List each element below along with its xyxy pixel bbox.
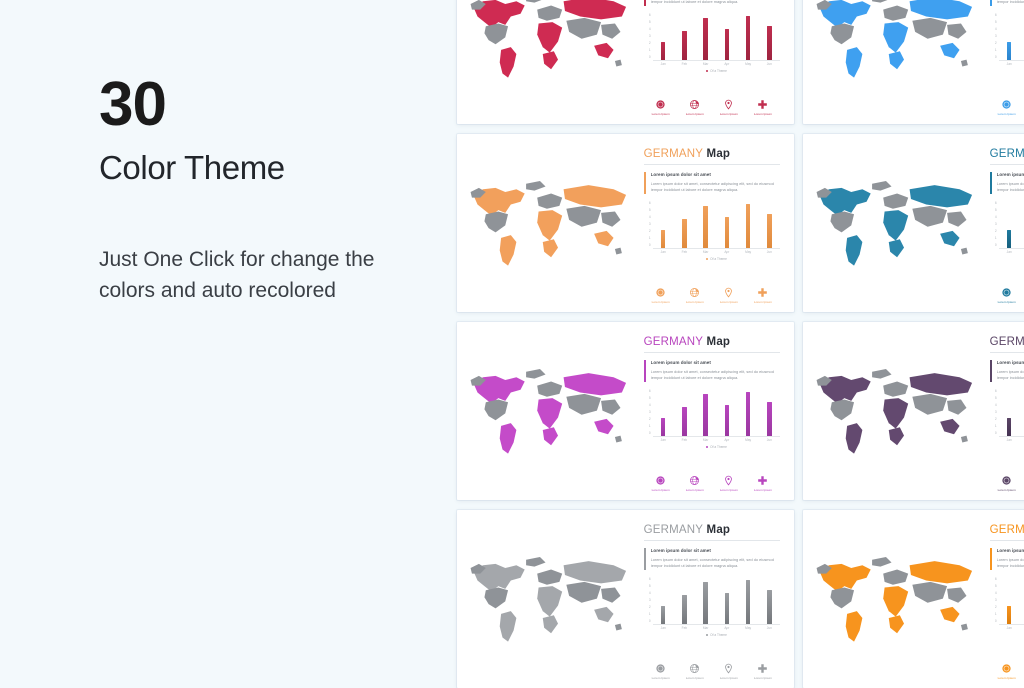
- y-axis-tick: 2: [995, 230, 997, 233]
- medical-cross-icon: [757, 287, 768, 298]
- chart-bar-column: [760, 214, 778, 248]
- bar-chart: 6543210JanFebMarAprMayJunOf a Theme: [644, 14, 780, 73]
- x-axis-label: Apr: [718, 439, 736, 442]
- chart-y-axis: 6543210: [990, 14, 999, 60]
- chart-legend: Of a Theme: [653, 445, 780, 449]
- chart-bar-column: [654, 230, 672, 248]
- y-axis-tick: 5: [649, 209, 651, 212]
- chart-bar: [746, 580, 751, 624]
- promo-subtitle: Just One Click for change the colors and…: [99, 245, 429, 306]
- y-axis-tick: 3: [995, 223, 997, 226]
- chart-bar-column: [676, 407, 694, 436]
- feature-item: Lorem Ipsum: [680, 99, 710, 116]
- slide-content: GERMANY Map Lorem ipsum dolor sit amet L…: [982, 510, 1024, 688]
- chart-bar-column: [718, 29, 736, 60]
- chart-y-axis: 6543210: [990, 202, 999, 248]
- feature-label: Lorem Ipsum: [754, 301, 772, 304]
- y-axis-tick: 5: [649, 21, 651, 24]
- y-axis-tick: 1: [649, 613, 651, 616]
- y-axis-tick: 5: [995, 585, 997, 588]
- blurb-paragraph: Lorem ipsum dolor sit amet, consectetur …: [997, 369, 1024, 382]
- legend-label: Of a Theme: [710, 257, 727, 261]
- feature-label: Lorem Ipsum: [652, 489, 670, 492]
- y-axis-tick: 3: [649, 411, 651, 414]
- chart-bar-column: [739, 16, 757, 60]
- theme-card-plum-theme[interactable]: GERMANY Map Lorem ipsum dolor sit amet L…: [803, 322, 1024, 500]
- y-axis-tick: 0: [995, 620, 997, 623]
- slide-title-dark: Map: [703, 148, 730, 160]
- feature-item: Lorem Ipsum: [992, 475, 1022, 492]
- y-axis-tick: 4: [995, 404, 997, 407]
- chart-legend: Of a Theme: [999, 445, 1024, 449]
- y-axis-tick: 0: [649, 620, 651, 623]
- chart-legend: Of a Theme: [653, 257, 780, 261]
- blurb-block: Lorem ipsum dolor sit amet Lorem ipsum d…: [644, 360, 780, 382]
- location-pin-icon: [723, 663, 734, 674]
- chart-bar-column: [1000, 606, 1018, 624]
- bar-chart: 6543210JanFebMarAprMayJunOf a Theme: [644, 578, 780, 637]
- medical-cross-icon: [757, 475, 768, 486]
- chart-plot-area: JanFebMarAprMayJunOf a Theme: [653, 14, 780, 73]
- blurb-paragraph: Lorem ipsum dolor sit amet, consectetur …: [651, 369, 780, 382]
- location-pin-icon: [723, 287, 734, 298]
- slide-content: GERMANY Map Lorem ipsum dolor sit amet L…: [636, 134, 794, 312]
- chart-bar: [682, 595, 687, 624]
- chart-y-axis: 6543210: [990, 578, 999, 624]
- x-axis-label: May: [739, 251, 757, 254]
- y-axis-tick: 0: [995, 56, 997, 59]
- slide-title-accent: GERMANY: [644, 524, 704, 536]
- chart-bar-column: [760, 402, 778, 436]
- y-axis-tick: 4: [649, 404, 651, 407]
- feature-label: Lorem Ipsum: [652, 301, 670, 304]
- feature-item: Lorem Ipsum: [748, 287, 778, 304]
- slide-content: GERMANY Map Lorem ipsum dolor sit amet L…: [636, 0, 794, 124]
- chart-bar-column: [654, 606, 672, 624]
- feature-label: Lorem Ipsum: [998, 113, 1016, 116]
- blurb-block: Lorem ipsum dolor sit amet Lorem ipsum d…: [644, 0, 780, 6]
- blurb-heading: Lorem ipsum dolor sit amet: [651, 548, 780, 555]
- blurb-accent-bar: [990, 360, 992, 382]
- chart-x-axis: JanFebMarAprMayJun: [653, 627, 780, 630]
- blurb-block: Lorem ipsum dolor sit amet Lorem ipsum d…: [644, 172, 780, 194]
- chart-bar-column: [1000, 42, 1018, 60]
- x-axis-label: Jan: [1000, 627, 1018, 630]
- chart-y-axis: 6543210: [644, 390, 653, 436]
- theme-card-azure-theme[interactable]: GERMANY Map Lorem ipsum dolor sit amet L…: [803, 0, 1024, 124]
- medical-cross-icon: [757, 663, 768, 674]
- chart-y-axis: 6543210: [644, 202, 653, 248]
- world-map-icon: [457, 134, 636, 312]
- y-axis-tick: 1: [649, 425, 651, 428]
- chart-y-axis: 6543210: [644, 14, 653, 60]
- world-map-icon: [457, 510, 636, 688]
- blurb-paragraph: Lorem ipsum dolor sit amet, consectetur …: [997, 181, 1024, 194]
- blurb-block: Lorem ipsum dolor sit amet Lorem ipsum d…: [990, 0, 1024, 6]
- chart-x-axis: JanFebMarAprMayJun: [999, 251, 1024, 254]
- y-axis-tick: 2: [649, 606, 651, 609]
- y-axis-tick: 5: [649, 397, 651, 400]
- feature-item: Lorem Ipsum: [992, 287, 1022, 304]
- feature-item: Lorem Ipsum: [714, 663, 744, 680]
- blurb-paragraph: Lorem ipsum dolor sit amet, consectetur …: [651, 181, 780, 194]
- theme-card-orange-theme[interactable]: GERMANY Map Lorem ipsum dolor sit amet L…: [803, 510, 1024, 688]
- slide-title-accent: GERMANY: [644, 148, 704, 160]
- chart-bar: [767, 26, 772, 60]
- feature-icon-row: Lorem IpsumLorem IpsumLorem IpsumLorem I…: [990, 283, 1024, 304]
- slide-title-accent: GERMANY: [990, 336, 1024, 348]
- feature-icon-row: Lorem IpsumLorem IpsumLorem IpsumLorem I…: [644, 95, 780, 116]
- feature-label: Lorem Ipsum: [998, 301, 1016, 304]
- x-axis-label: May: [739, 439, 757, 442]
- chart-x-axis: JanFebMarAprMayJun: [653, 63, 780, 66]
- title-divider: [990, 352, 1024, 353]
- slide-title: GERMANY Map: [990, 524, 1024, 536]
- x-axis-label: Mar: [697, 439, 715, 442]
- slide-content: GERMANY Map Lorem ipsum dolor sit amet L…: [982, 322, 1024, 500]
- x-axis-label: Jun: [760, 63, 778, 66]
- x-axis-label: Jan: [1000, 439, 1018, 442]
- chart-bar-column: [654, 418, 672, 436]
- x-axis-label: May: [739, 627, 757, 630]
- slide-title: GERMANY Map: [644, 524, 780, 536]
- feature-item: Lorem Ipsum: [714, 287, 744, 304]
- y-axis-tick: 0: [649, 432, 651, 435]
- y-axis-tick: 4: [649, 592, 651, 595]
- medical-cross-icon: [757, 99, 768, 110]
- blurb-paragraph: Lorem ipsum dolor sit amet, consectetur …: [997, 0, 1024, 6]
- x-axis-label: Feb: [676, 63, 694, 66]
- chart-plot-area: JanFebMarAprMayJunOf a Theme: [999, 202, 1024, 261]
- globe-icon: [689, 287, 700, 298]
- bar-chart: 6543210JanFebMarAprMayJunOf a Theme: [990, 578, 1024, 637]
- chart-bar: [767, 402, 772, 436]
- y-axis-tick: 2: [649, 230, 651, 233]
- stamp-seal-icon: [1001, 663, 1012, 674]
- legend-swatch: [706, 634, 709, 637]
- x-axis-label: Jan: [654, 627, 672, 630]
- chart-x-axis: JanFebMarAprMayJun: [999, 63, 1024, 66]
- y-axis-tick: 3: [995, 411, 997, 414]
- feature-icon-row: Lorem IpsumLorem IpsumLorem IpsumLorem I…: [644, 283, 780, 304]
- title-divider: [990, 540, 1024, 541]
- globe-icon: [689, 99, 700, 110]
- slide-content: GERMANY Map Lorem ipsum dolor sit amet L…: [982, 0, 1024, 124]
- x-axis-label: Feb: [676, 251, 694, 254]
- y-axis-tick: 1: [995, 49, 997, 52]
- chart-bar-column: [739, 204, 757, 248]
- stamp-seal-icon: [655, 287, 666, 298]
- theme-count: 30: [99, 74, 429, 136]
- blurb-paragraph: Lorem ipsum dolor sit amet, consectetur …: [651, 0, 780, 6]
- chart-bar: [682, 219, 687, 248]
- chart-bar-column: [676, 219, 694, 248]
- y-axis-tick: 4: [995, 592, 997, 595]
- slide-title-dark: Map: [703, 336, 730, 348]
- chart-bar-column: [676, 595, 694, 624]
- chart-bar-column: [697, 394, 715, 435]
- chart-bar-column: [739, 392, 757, 436]
- x-axis-label: Mar: [697, 63, 715, 66]
- feature-label: Lorem Ipsum: [720, 301, 738, 304]
- blurb-accent-bar: [644, 360, 646, 382]
- chart-legend: Of a Theme: [999, 633, 1024, 637]
- stamp-seal-icon: [655, 663, 666, 674]
- chart-x-axis: JanFebMarAprMayJun: [999, 439, 1024, 442]
- y-axis-tick: 3: [995, 35, 997, 38]
- chart-bar-column: [676, 31, 694, 60]
- chart-bar-column: [718, 405, 736, 436]
- feature-icon-row: Lorem IpsumLorem IpsumLorem IpsumLorem I…: [990, 659, 1024, 680]
- world-map-icon: [803, 0, 982, 124]
- bar-chart: 6543210JanFebMarAprMayJunOf a Theme: [990, 202, 1024, 261]
- y-axis-tick: 6: [995, 202, 997, 205]
- chart-bar: [661, 42, 666, 60]
- stamp-seal-icon: [1001, 475, 1012, 486]
- feature-label: Lorem Ipsum: [754, 489, 772, 492]
- blurb-accent-bar: [644, 548, 646, 570]
- chart-bar: [725, 29, 730, 60]
- feature-item: Lorem Ipsum: [680, 475, 710, 492]
- x-axis-label: Apr: [718, 63, 736, 66]
- bar-chart: 6543210JanFebMarAprMayJunOf a Theme: [990, 390, 1024, 449]
- blurb-block: Lorem ipsum dolor sit amet Lorem ipsum d…: [644, 548, 780, 570]
- x-axis-label: Feb: [676, 439, 694, 442]
- chart-bar: [767, 590, 772, 624]
- stamp-seal-icon: [655, 475, 666, 486]
- y-axis-tick: 6: [995, 578, 997, 581]
- chart-bar: [767, 214, 772, 248]
- location-pin-icon: [723, 99, 734, 110]
- chart-bar: [1007, 230, 1012, 248]
- y-axis-tick: 3: [649, 223, 651, 226]
- chart-bar-column: [718, 217, 736, 248]
- blurb-paragraph: Lorem ipsum dolor sit amet, consectetur …: [651, 557, 780, 570]
- theme-card-crimson-theme[interactable]: GERMANY Map Lorem ipsum dolor sit amet L…: [457, 0, 794, 124]
- blurb-accent-bar: [644, 0, 646, 6]
- feature-item: Lorem Ipsum: [992, 99, 1022, 116]
- legend-swatch: [706, 258, 709, 261]
- stamp-seal-icon: [655, 99, 666, 110]
- chart-bar-column: [760, 590, 778, 624]
- chart-bar-column: [697, 582, 715, 623]
- feature-item: Lorem Ipsum: [714, 99, 744, 116]
- y-axis-tick: 2: [649, 418, 651, 421]
- world-map-icon: [803, 322, 982, 500]
- bar-chart: 6543210JanFebMarAprMayJunOf a Theme: [990, 14, 1024, 73]
- feature-item: Lorem Ipsum: [646, 475, 676, 492]
- y-axis-tick: 1: [995, 237, 997, 240]
- feature-item: Lorem Ipsum: [748, 99, 778, 116]
- theme-card-peach-theme[interactable]: GERMANY Map Lorem ipsum dolor sit amet L…: [457, 134, 794, 312]
- location-pin-icon: [723, 475, 734, 486]
- y-axis-tick: 4: [995, 28, 997, 31]
- feature-item: Lorem Ipsum: [748, 475, 778, 492]
- chart-plot-area: JanFebMarAprMayJunOf a Theme: [653, 578, 780, 637]
- theme-card-teal-theme[interactable]: GERMANY Map Lorem ipsum dolor sit amet L…: [803, 134, 1024, 312]
- y-axis-tick: 5: [995, 397, 997, 400]
- blurb-heading: Lorem ipsum dolor sit amet: [997, 548, 1024, 555]
- y-axis-tick: 2: [995, 42, 997, 45]
- x-axis-label: Jan: [654, 439, 672, 442]
- feature-item: Lorem Ipsum: [992, 663, 1022, 680]
- y-axis-tick: 0: [995, 244, 997, 247]
- legend-label: Of a Theme: [710, 69, 727, 73]
- theme-card-orchid-theme[interactable]: GERMANY Map Lorem ipsum dolor sit amet L…: [457, 322, 794, 500]
- y-axis-tick: 4: [649, 216, 651, 219]
- theme-grid: GERMANY Map Lorem ipsum dolor sit amet L…: [457, 0, 1024, 688]
- y-axis-tick: 5: [995, 21, 997, 24]
- feature-label: Lorem Ipsum: [652, 677, 670, 680]
- legend-swatch: [706, 70, 709, 73]
- y-axis-tick: 1: [995, 425, 997, 428]
- y-axis-tick: 2: [649, 42, 651, 45]
- stamp-seal-icon: [1001, 99, 1012, 110]
- feature-label: Lorem Ipsum: [720, 677, 738, 680]
- feature-icon-row: Lorem IpsumLorem IpsumLorem IpsumLorem I…: [644, 659, 780, 680]
- feature-label: Lorem Ipsum: [652, 113, 670, 116]
- feature-item: Lorem Ipsum: [714, 475, 744, 492]
- title-divider: [644, 540, 780, 541]
- chart-bar-column: [1000, 418, 1018, 436]
- feature-label: Lorem Ipsum: [686, 113, 704, 116]
- chart-bar: [703, 206, 708, 247]
- blurb-heading: Lorem ipsum dolor sit amet: [997, 172, 1024, 179]
- chart-bar: [703, 18, 708, 59]
- blurb-accent-bar: [990, 548, 992, 570]
- x-axis-label: Apr: [718, 251, 736, 254]
- chart-bar-column: [739, 580, 757, 624]
- y-axis-tick: 1: [649, 237, 651, 240]
- x-axis-label: Jan: [654, 63, 672, 66]
- chart-plot-area: JanFebMarAprMayJunOf a Theme: [653, 390, 780, 449]
- blurb-block: Lorem ipsum dolor sit amet Lorem ipsum d…: [990, 548, 1024, 570]
- y-axis-tick: 3: [649, 35, 651, 38]
- blurb-accent-bar: [990, 172, 992, 194]
- chart-bar: [661, 230, 666, 248]
- feature-label: Lorem Ipsum: [720, 489, 738, 492]
- y-axis-tick: 1: [995, 613, 997, 616]
- slide-title-accent: GERMANY: [990, 524, 1024, 536]
- x-axis-label: Jun: [760, 439, 778, 442]
- chart-legend: Of a Theme: [999, 257, 1024, 261]
- feature-label: Lorem Ipsum: [720, 113, 738, 116]
- y-axis-tick: 3: [995, 599, 997, 602]
- x-axis-label: Jan: [654, 251, 672, 254]
- feature-item: Lorem Ipsum: [646, 287, 676, 304]
- slide-title: GERMANY Map: [990, 336, 1024, 348]
- world-map-icon: [457, 322, 636, 500]
- feature-label: Lorem Ipsum: [998, 489, 1016, 492]
- x-axis-label: Jan: [1000, 63, 1018, 66]
- y-axis-tick: 6: [995, 390, 997, 393]
- blurb-heading: Lorem ipsum dolor sit amet: [651, 360, 780, 367]
- chart-bar: [661, 606, 666, 624]
- chart-bar: [1007, 606, 1012, 624]
- world-map-icon: [803, 134, 982, 312]
- slide-content: GERMANY Map Lorem ipsum dolor sit amet L…: [636, 510, 794, 688]
- x-axis-label: Jan: [1000, 251, 1018, 254]
- y-axis-tick: 6: [649, 202, 651, 205]
- feature-item: Lorem Ipsum: [646, 663, 676, 680]
- feature-item: Lorem Ipsum: [646, 99, 676, 116]
- chart-bar: [1007, 42, 1012, 60]
- chart-bar: [703, 394, 708, 435]
- y-axis-tick: 4: [995, 216, 997, 219]
- y-axis-tick: 0: [995, 432, 997, 435]
- chart-bar-column: [718, 593, 736, 624]
- feature-icon-row: Lorem IpsumLorem IpsumLorem IpsumLorem I…: [644, 471, 780, 492]
- y-axis-tick: 0: [649, 244, 651, 247]
- blurb-accent-bar: [644, 172, 646, 194]
- feature-icon-row: Lorem IpsumLorem IpsumLorem IpsumLorem I…: [990, 471, 1024, 492]
- chart-x-axis: JanFebMarAprMayJun: [653, 251, 780, 254]
- feature-label: Lorem Ipsum: [686, 677, 704, 680]
- chart-plot-area: JanFebMarAprMayJunOf a Theme: [999, 578, 1024, 637]
- slide-content: GERMANY Map Lorem ipsum dolor sit amet L…: [982, 134, 1024, 312]
- feature-item: Lorem Ipsum: [680, 663, 710, 680]
- globe-icon: [689, 663, 700, 674]
- chart-bar: [682, 31, 687, 60]
- slide-title: GERMANY Map: [644, 148, 780, 160]
- x-axis-label: Jun: [760, 251, 778, 254]
- title-divider: [644, 164, 780, 165]
- y-axis-tick: 5: [649, 585, 651, 588]
- slide-title-accent: GERMANY: [990, 148, 1024, 160]
- chart-bar-column: [697, 206, 715, 247]
- slide-content: GERMANY Map Lorem ipsum dolor sit amet L…: [636, 322, 794, 500]
- globe-icon: [689, 475, 700, 486]
- world-map-icon: [803, 510, 982, 688]
- x-axis-label: Apr: [718, 627, 736, 630]
- feature-item: Lorem Ipsum: [680, 287, 710, 304]
- bar-chart: 6543210JanFebMarAprMayJunOf a Theme: [644, 202, 780, 261]
- chart-plot-area: JanFebMarAprMayJunOf a Theme: [999, 390, 1024, 449]
- chart-bar: [1007, 418, 1012, 436]
- blurb-paragraph: Lorem ipsum dolor sit amet, consectetur …: [997, 557, 1024, 570]
- feature-label: Lorem Ipsum: [686, 301, 704, 304]
- chart-legend: Of a Theme: [653, 69, 780, 73]
- y-axis-tick: 3: [649, 599, 651, 602]
- blurb-heading: Lorem ipsum dolor sit amet: [651, 172, 780, 179]
- y-axis-tick: 5: [995, 209, 997, 212]
- color-theme-showcase: 30 Color Theme Just One Click for change…: [0, 0, 1024, 683]
- y-axis-tick: 6: [649, 14, 651, 17]
- chart-legend: Of a Theme: [653, 633, 780, 637]
- legend-label: Of a Theme: [710, 633, 727, 637]
- y-axis-tick: 2: [995, 418, 997, 421]
- blurb-accent-bar: [990, 0, 992, 6]
- chart-y-axis: 6543210: [644, 578, 653, 624]
- bar-chart: 6543210JanFebMarAprMayJunOf a Theme: [644, 390, 780, 449]
- y-axis-tick: 0: [649, 56, 651, 59]
- title-divider: [990, 164, 1024, 165]
- chart-bar: [703, 582, 708, 623]
- chart-bar: [746, 392, 751, 436]
- feature-label: Lorem Ipsum: [754, 677, 772, 680]
- feature-label: Lorem Ipsum: [686, 489, 704, 492]
- chart-bar-column: [760, 26, 778, 60]
- chart-bar: [725, 405, 730, 436]
- blurb-heading: Lorem ipsum dolor sit amet: [997, 360, 1024, 367]
- theme-card-graphite-theme[interactable]: GERMANY Map Lorem ipsum dolor sit amet L…: [457, 510, 794, 688]
- chart-x-axis: JanFebMarAprMayJun: [999, 627, 1024, 630]
- chart-bar-column: [1000, 230, 1018, 248]
- chart-plot-area: JanFebMarAprMayJunOf a Theme: [653, 202, 780, 261]
- y-axis-tick: 2: [995, 606, 997, 609]
- blurb-block: Lorem ipsum dolor sit amet Lorem ipsum d…: [990, 360, 1024, 382]
- legend-label: Of a Theme: [710, 445, 727, 449]
